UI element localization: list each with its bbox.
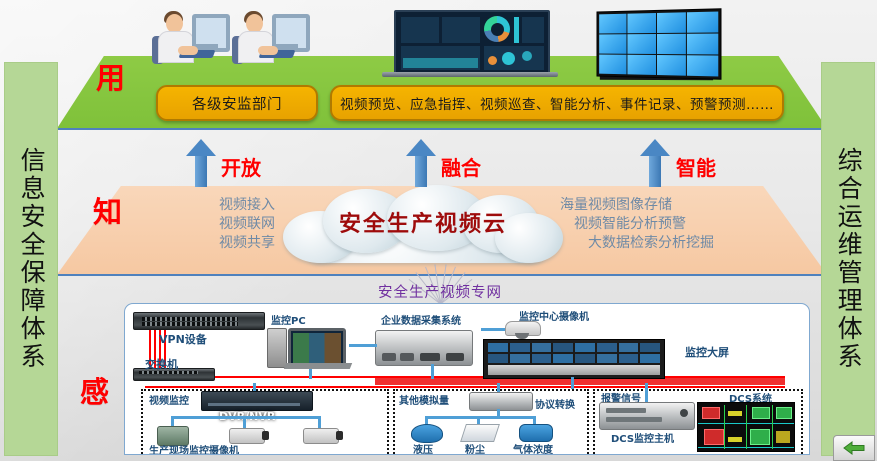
label-site-camera: 生产现场监控摄像机 <box>149 442 239 455</box>
gas-sensor-image <box>519 424 553 442</box>
back-arrow-glyph <box>843 441 865 455</box>
cloud-right-item-3: 大数据检索分析挖掘 <box>560 234 760 253</box>
slide-canvas: 用 知 感 各级安监部门 视频预览、应急指挥、视频巡查、智能分析、事件记录、预警… <box>0 0 877 461</box>
pc-monitor-image <box>288 328 346 368</box>
cloud-title: 安全生产视频云 <box>283 206 563 238</box>
link-sensors-bar <box>425 416 535 419</box>
cloud-left-item-2: 视频联网 <box>150 215 275 234</box>
link-server-camera <box>481 328 505 331</box>
layer-char-gan: 感 <box>80 378 109 407</box>
cloud-capabilities-left: 视频接入 视频联网 视频共享 <box>150 196 275 253</box>
label-monitor-pc: 监控PC <box>271 312 306 327</box>
side-panel-operations: 综合运维管理体系 <box>821 62 875 456</box>
label-gas: 气体浓度 <box>513 441 553 455</box>
link-converter-bus <box>497 383 500 392</box>
layer-char-yong: 用 <box>96 64 125 93</box>
vpn-appliance-image <box>133 312 265 330</box>
link-cam2 <box>243 416 246 428</box>
cloud-left-item-1: 视频接入 <box>150 196 275 215</box>
back-arrow-icon[interactable] <box>833 435 875 461</box>
dcs-schematic-image <box>697 402 795 452</box>
pill-supervision-departments[interactable]: 各级安监部门 <box>156 85 318 121</box>
dcs-host-image <box>599 402 695 430</box>
side-label-left: 信息安全保障体系 <box>17 147 45 371</box>
data-collection-server-image <box>375 330 473 366</box>
label-big-screen: 监控大屏 <box>685 344 729 360</box>
link-dcs-bus <box>645 383 648 402</box>
dashboard-screen-image <box>394 10 550 76</box>
link-cam3 <box>318 416 321 428</box>
arrow-open-icon <box>186 139 216 187</box>
label-video-monitor: 视频监控 <box>149 392 189 407</box>
label-dust: 粉尘 <box>465 441 485 455</box>
arrow-converge-icon <box>406 139 436 187</box>
pc-keyboard-image <box>284 363 352 369</box>
dust-sensor-image <box>460 424 500 442</box>
link-wall-bus <box>571 377 574 389</box>
link-converter-sensors <box>497 409 500 417</box>
cloud-left-item-3: 视频共享 <box>150 234 275 253</box>
cloud-capabilities-right: 海量视频图像存储 视频智能分析预警 大数据检索分析挖掘 <box>560 196 760 253</box>
link-pc-server <box>349 344 377 347</box>
link-pc-bus <box>309 369 312 379</box>
label-other-analog: 其他模拟量 <box>399 392 449 407</box>
video-wall-image <box>596 8 721 79</box>
label-hydraulic: 液压 <box>413 441 433 455</box>
red-bus-main <box>375 378 785 385</box>
users-at-computers-image <box>152 6 304 68</box>
layer-char-zhi: 知 <box>93 198 122 227</box>
infrastructure-panel: VPN设备 交换机 监控PC 企业数据采集系统 监控中心摄像机 <box>124 303 810 455</box>
dvr-device-image <box>201 391 313 411</box>
pc-tower-image <box>267 328 287 368</box>
label-dcs-host: DCS监控主机 <box>611 430 674 445</box>
arrow-intelligent-icon <box>640 139 670 187</box>
pill-application-functions[interactable]: 视频预览、应急指挥、视频巡查、智能分析、事件记录、预警预测…… <box>330 85 784 121</box>
link-dvr-cameras <box>171 416 321 419</box>
box-camera-2-image <box>303 428 339 444</box>
private-network-label: 安全生产视频专网 <box>300 281 580 302</box>
cloud-right-item-1: 海量视频图像存储 <box>560 196 760 215</box>
label-data-collection: 企业数据采集系统 <box>381 312 461 327</box>
label-protocol-convert: 协议转换 <box>535 396 575 411</box>
dashboard-stand <box>382 72 558 77</box>
label-switch: 交换机 <box>145 356 178 372</box>
link-server-bus <box>431 364 434 379</box>
arrow-label-converge: 融合 <box>441 152 481 181</box>
red-bus-bottom <box>145 386 785 388</box>
side-panel-info-security: 信息安全保障体系 <box>4 62 58 456</box>
arrow-label-intelligent: 智能 <box>676 152 716 181</box>
link-dvr-bus <box>253 383 256 391</box>
protocol-converter-image <box>469 392 533 411</box>
control-room-wall-image <box>483 339 665 379</box>
side-label-right: 综合运维管理体系 <box>834 147 862 371</box>
label-vpn: VPN设备 <box>159 331 207 347</box>
arrow-label-open: 开放 <box>221 152 261 181</box>
cloud-right-item-2: 视频智能分析预警 <box>560 215 760 234</box>
